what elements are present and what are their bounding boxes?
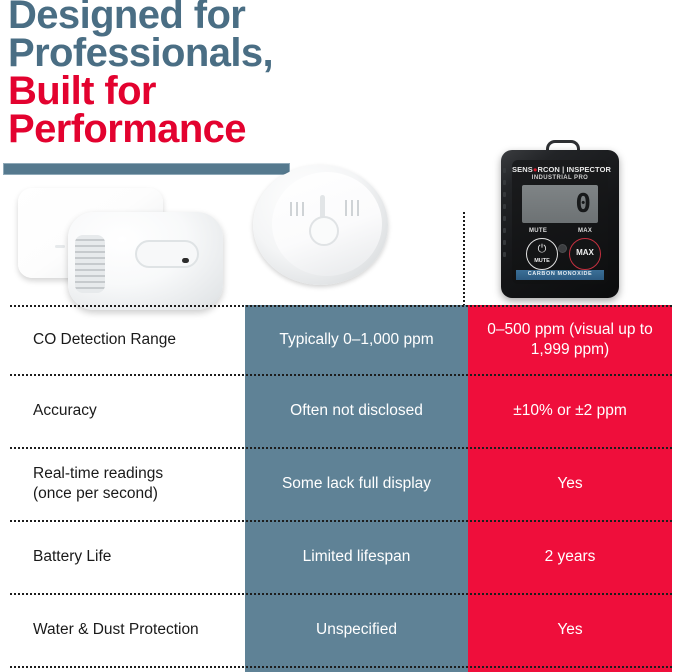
residential-detector-oval-test-button xyxy=(135,240,199,268)
device-subtitle: INDUSTRIAL PRO xyxy=(512,175,608,181)
residential-detector-oval-led xyxy=(182,258,189,263)
row-sensorcon-value: ±10% or ±2 ppm xyxy=(468,401,672,420)
device-brand-label: SENS●RCON | INSPECTOR xyxy=(512,165,608,174)
residential-detector-rect-dash-left xyxy=(55,245,65,248)
comparison-table: CO Detection Range Typically 0–1,000 ppm… xyxy=(0,305,679,672)
residential-detector-round-vents-right xyxy=(345,200,361,216)
row-label-line-1: Real-time readings xyxy=(33,465,163,482)
device-mute-button[interactable]: ⏻ MUTE xyxy=(526,238,558,270)
device-lcd-reading: 0 xyxy=(575,189,591,219)
row-residential-value: Limited lifespan xyxy=(245,547,468,566)
power-icon: ⏻ xyxy=(527,244,557,255)
row-label: Battery Life xyxy=(0,547,245,566)
row-residential-value: Unspecified xyxy=(245,620,468,639)
row-label: CO Detection Range xyxy=(0,330,245,349)
device-max-button-label: MAX xyxy=(570,248,600,257)
row-label-line-1: CO Detection Range xyxy=(33,331,176,348)
table-row: Real-time readings (once per second) Som… xyxy=(0,447,679,520)
row-label: Real-time readings (once per second) xyxy=(0,464,245,503)
column-vertical-divider xyxy=(463,212,465,306)
page-headline: Designed for Professionals, Built for Pe… xyxy=(8,0,348,148)
row-label: Accuracy xyxy=(0,401,245,420)
row-sensorcon-value: 0–500 ppm (visual up to 1,999 ppm) xyxy=(468,320,672,359)
device-max-button[interactable]: MAX xyxy=(569,238,601,270)
residential-detector-round-vents-left xyxy=(290,202,308,216)
device-status-led xyxy=(558,244,567,253)
device-mute-label: MUTE xyxy=(529,228,547,234)
device-max-label: MAX xyxy=(578,228,592,234)
row-label-line-2: (once per second) xyxy=(33,485,158,502)
device-front-face: SENS●RCON | INSPECTOR INDUSTRIAL PRO 0 M… xyxy=(512,160,608,284)
device-gas-type-band: CARBON MONOXIDE xyxy=(516,270,604,280)
table-row: CO Detection Range Typically 0–1,000 ppm… xyxy=(0,305,679,374)
row-residential-value: Typically 0–1,000 ppm xyxy=(245,330,468,349)
row-label-line-1: Battery Life xyxy=(33,548,111,565)
residential-detector-round-button xyxy=(309,216,339,246)
row-label: Water & Dust Protection xyxy=(0,620,245,639)
table-rule-bottom xyxy=(10,666,672,668)
row-label-line-1: Water & Dust Protection xyxy=(33,621,199,638)
headline-line-1: Designed for xyxy=(8,0,348,34)
row-sensorcon-value: Yes xyxy=(468,474,672,493)
row-residential-value: Some lack full display xyxy=(245,474,468,493)
residential-detector-oval-grille xyxy=(75,235,105,293)
device-brand-model: INSPECTOR xyxy=(567,165,612,174)
headline-line-3: Built for xyxy=(8,72,348,110)
device-mute-button-label: MUTE xyxy=(527,258,557,264)
device-brand-prefix: SENS xyxy=(512,165,533,174)
row-label-line-1: Accuracy xyxy=(33,402,97,419)
device-brand-separator: | xyxy=(562,165,564,174)
headline-line-2: Professionals, xyxy=(8,34,348,72)
device-gas-type-label: CARBON MONOXIDE xyxy=(516,271,604,277)
table-row: Battery Life Limited lifespan 2 years xyxy=(0,520,679,593)
row-residential-value: Often not disclosed xyxy=(245,401,468,420)
row-sensorcon-value: Yes xyxy=(468,620,672,639)
device-brand-suffix: RCON xyxy=(537,165,559,174)
row-sensorcon-value: 2 years xyxy=(468,547,672,566)
table-row: Accuracy Often not disclosed ±10% or ±2 … xyxy=(0,374,679,447)
device-lcd-screen: 0 xyxy=(522,185,598,223)
table-row: Water & Dust Protection Unspecified Yes xyxy=(0,593,679,666)
sensorcon-inspector-device: SENS●RCON | INSPECTOR INDUSTRIAL PRO 0 M… xyxy=(501,150,619,298)
product-image-area: SENS●RCON | INSPECTOR INDUSTRIAL PRO 0 M… xyxy=(0,140,679,305)
